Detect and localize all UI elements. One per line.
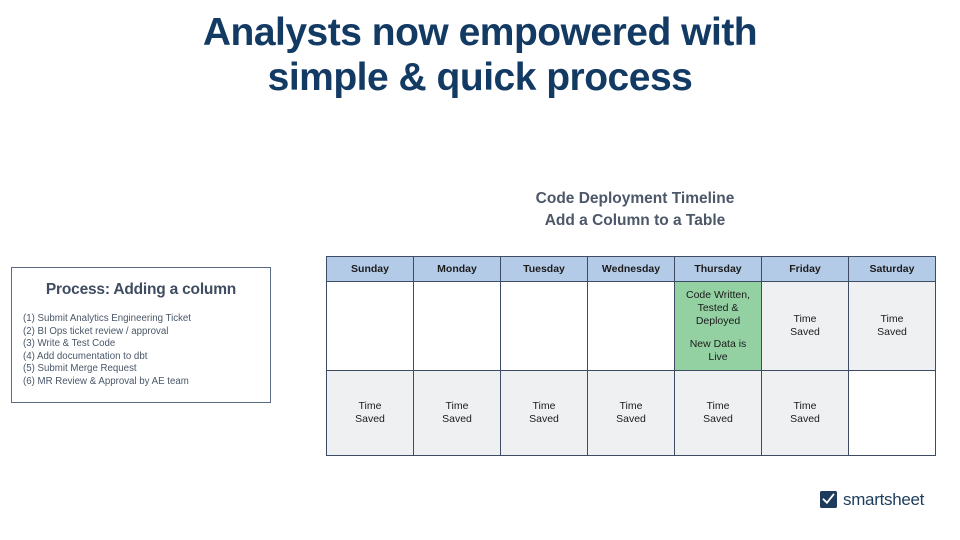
timeline-heading: Code Deployment Timeline Add a Column to… <box>440 188 830 232</box>
highlight-spacer <box>675 328 761 338</box>
cell-row2-tuesday-time-saved: Time Saved <box>501 371 588 456</box>
process-step-6: (6) MR Review & Approval by AE team <box>23 376 270 389</box>
time-saved-line-2: Saved <box>675 413 761 426</box>
time-saved-line-2: Saved <box>414 413 500 426</box>
column-header-sunday: Sunday <box>327 257 414 282</box>
time-saved-line-2: Saved <box>849 326 935 339</box>
page-title-line-2: simple & quick process <box>120 55 840 100</box>
time-saved-line-1: Time <box>588 400 674 413</box>
cell-row1-sunday <box>327 282 414 371</box>
column-header-wednesday: Wednesday <box>588 257 675 282</box>
table-row: Code Written, Tested & Deployed New Data… <box>327 282 936 371</box>
cell-row1-monday <box>414 282 501 371</box>
column-header-friday: Friday <box>762 257 849 282</box>
column-header-tuesday: Tuesday <box>501 257 588 282</box>
cell-row2-monday-time-saved: Time Saved <box>414 371 501 456</box>
cell-row1-thursday-highlight: Code Written, Tested & Deployed New Data… <box>675 282 762 371</box>
table-row: Time Saved Time Saved Time Saved Time Sa… <box>327 371 936 456</box>
cell-row1-friday-time-saved: Time Saved <box>762 282 849 371</box>
cell-row2-wednesday-time-saved: Time Saved <box>588 371 675 456</box>
cell-row2-sunday-time-saved: Time Saved <box>327 371 414 456</box>
smartsheet-wordmark: smartsheet <box>843 491 924 508</box>
cell-row2-thursday-time-saved: Time Saved <box>675 371 762 456</box>
process-step-list: (1) Submit Analytics Engineering Ticket … <box>23 313 270 389</box>
timeline-heading-line-2: Add a Column to a Table <box>440 210 830 232</box>
time-saved-line-1: Time <box>414 400 500 413</box>
cell-row1-tuesday <box>501 282 588 371</box>
highlight-line-5: Live <box>675 351 761 364</box>
highlight-line-3: Deployed <box>675 315 761 328</box>
highlight-line-1: Code Written, <box>675 289 761 302</box>
process-step-5: (5) Submit Merge Request <box>23 363 270 376</box>
process-step-1: (1) Submit Analytics Engineering Ticket <box>23 313 270 326</box>
process-step-4: (4) Add documentation to dbt <box>23 351 270 364</box>
time-saved-line-2: Saved <box>762 413 848 426</box>
time-saved-line-1: Time <box>327 400 413 413</box>
column-header-thursday: Thursday <box>675 257 762 282</box>
time-saved-line-2: Saved <box>327 413 413 426</box>
time-saved-line-1: Time <box>762 313 848 326</box>
checkbox-check-icon <box>820 491 837 508</box>
table-header-row: Sunday Monday Tuesday Wednesday Thursday… <box>327 257 936 282</box>
smartsheet-logo: smartsheet <box>820 491 924 508</box>
process-step-3: (3) Write & Test Code <box>23 338 270 351</box>
cell-row1-saturday-time-saved: Time Saved <box>849 282 936 371</box>
time-saved-line-2: Saved <box>762 326 848 339</box>
highlight-line-4: New Data is <box>675 338 761 351</box>
cell-row1-wednesday <box>588 282 675 371</box>
code-deployment-timeline-table: Sunday Monday Tuesday Wednesday Thursday… <box>326 256 936 456</box>
page-title: Analysts now empowered with simple & qui… <box>120 10 840 100</box>
time-saved-line-1: Time <box>762 400 848 413</box>
process-box-heading: Process: Adding a column <box>12 281 270 299</box>
cell-row2-saturday-blank <box>849 371 936 456</box>
highlight-line-2: Tested & <box>675 302 761 315</box>
cell-row2-friday-time-saved: Time Saved <box>762 371 849 456</box>
process-step-2: (2) BI Ops ticket review / approval <box>23 326 270 339</box>
time-saved-line-1: Time <box>675 400 761 413</box>
time-saved-line-2: Saved <box>501 413 587 426</box>
column-header-saturday: Saturday <box>849 257 936 282</box>
time-saved-line-1: Time <box>849 313 935 326</box>
time-saved-line-2: Saved <box>588 413 674 426</box>
column-header-monday: Monday <box>414 257 501 282</box>
time-saved-line-1: Time <box>501 400 587 413</box>
page-title-line-1: Analysts now empowered with <box>120 10 840 55</box>
process-box: Process: Adding a column (1) Submit Anal… <box>11 267 271 403</box>
timeline-heading-line-1: Code Deployment Timeline <box>440 188 830 210</box>
